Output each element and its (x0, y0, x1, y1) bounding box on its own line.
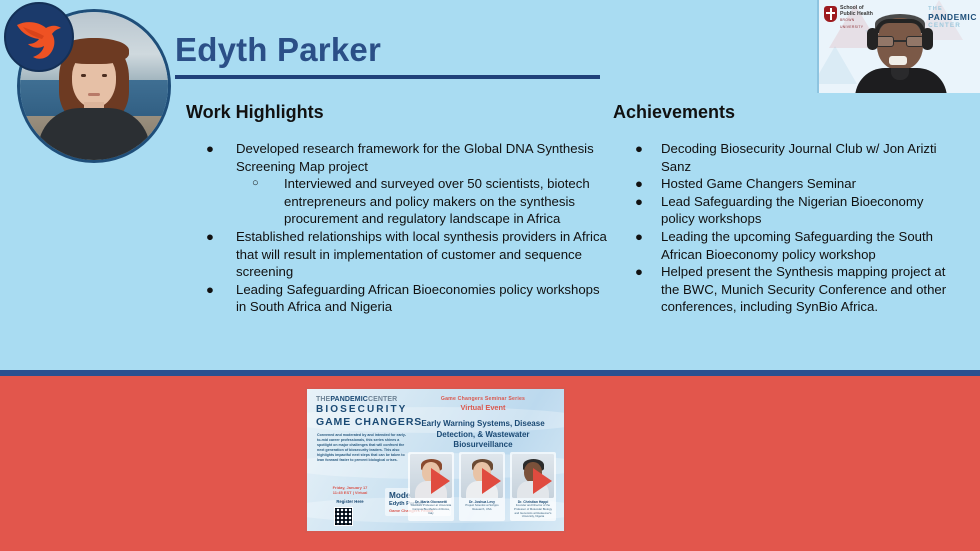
flyer-brand-mid: PANDEMIC (330, 396, 368, 403)
bullet-icon: ● (635, 193, 643, 211)
flyer-brand-pre: THE (316, 396, 330, 403)
achievement-item: ●Hosted Game Changers Seminar (613, 175, 958, 193)
flyer-event-block: Game Changers Seminar Series Virtual Eve… (409, 396, 557, 451)
flyer-date-line2: 11:45 EST | Virtual (319, 490, 381, 495)
achievements-heading: Achievements (613, 102, 735, 123)
flyer-brand-game-changers: GAME CHANGERS (316, 416, 422, 428)
flyer-brand-post: CENTER (368, 396, 397, 403)
achievement-item-text: Lead Safeguarding the Nigerian Bioeconom… (661, 194, 923, 227)
bullet-icon: ● (206, 140, 214, 158)
speaker-photo (461, 454, 503, 498)
shield-icon (824, 6, 837, 22)
flyer-description: Convened and moderated by and intended f… (317, 433, 409, 462)
ibis-bird-logo-icon (4, 2, 74, 72)
flyer-topic: Early Warning Systems, Disease Detection… (409, 419, 557, 451)
seminar-flyer[interactable]: THEPANDEMICCENTER BIOSECURITY GAME CHANG… (305, 387, 566, 533)
flyer-brand-biosecurity: BIOSECURITY (316, 404, 422, 415)
work-highlight-item: ○Interviewed and surveyed over 50 scient… (186, 175, 611, 228)
work-highlights-list: ●Developed research framework for the Gl… (186, 140, 611, 316)
achievement-item: ●Helped present the Synthesis mapping pr… (613, 263, 958, 316)
flyer-event-type: Virtual Event (409, 403, 557, 412)
title-underline (175, 75, 600, 79)
achievement-item-text: Leading the upcoming Safeguarding the So… (661, 229, 933, 262)
flyer-brand: THEPANDEMICCENTER BIOSECURITY GAME CHANG… (316, 396, 422, 428)
pc-line3: CENTER (928, 22, 977, 29)
work-highlights-heading: Work Highlights (186, 102, 324, 123)
speaker-affiliation: Assistant Professor at Universita Campus… (410, 504, 452, 515)
work-highlight-item-text: Developed research framework for the Glo… (236, 141, 594, 174)
work-highlight-item-text: Leading Safeguarding African Bioeconomie… (236, 282, 600, 315)
flyer-date-block: Friday, January 17 11:45 EST | Virtual R… (319, 485, 381, 504)
achievements-list: ●Decoding Biosecurity Journal Club w/ Jo… (613, 140, 958, 316)
speaker-affiliation: Project Scientist at Scripps Research, U… (461, 504, 503, 511)
work-highlight-item: ●Established relationships with local sy… (186, 228, 611, 281)
pandemic-center-logo: THE PANDEMIC CENTER (928, 6, 977, 29)
speaker-photo (512, 454, 554, 498)
speaker-video-tile[interactable]: School of Public Health BROWN UNIVERSITY… (817, 0, 980, 93)
achievement-item: ●Lead Safeguarding the Nigerian Bioecono… (613, 193, 958, 228)
bullet-icon: ● (206, 228, 214, 246)
bullet-icon: ● (206, 281, 214, 299)
work-highlight-item: ●Leading Safeguarding African Bioeconomi… (186, 281, 611, 316)
flyer-speaker-card: Dr. Christian HappiFounder and Director … (510, 452, 556, 521)
flyer-register-label: Register Here (319, 499, 381, 504)
speaker-affiliation: Founder and Director of the Professor of… (512, 504, 554, 518)
achievement-item-text: Helped present the Synthesis mapping pro… (661, 264, 946, 314)
achievement-item-text: Decoding Biosecurity Journal Club w/ Jon… (661, 141, 937, 174)
achievement-item-text: Hosted Game Changers Seminar (661, 176, 856, 191)
speaker-photo (410, 454, 452, 498)
flyer-speaker-card: Dr. Joshua LevyProject Scientist at Scri… (459, 452, 505, 521)
bullet-icon: ● (635, 263, 643, 281)
flyer-speaker-card: Dr. Maria GiovanettiAssistant Professor … (408, 452, 454, 521)
play-arrow-icon (431, 468, 450, 494)
qr-code-icon[interactable] (334, 507, 353, 526)
bullet-icon: ● (635, 140, 643, 158)
work-highlight-item-text: Established relationships with local syn… (236, 229, 607, 279)
work-highlight-item-text: Interviewed and surveyed over 50 scienti… (284, 176, 590, 226)
sub-bullet-icon: ○ (252, 175, 259, 193)
work-highlight-item: ●Developed research framework for the Gl… (186, 140, 611, 175)
play-arrow-icon (482, 468, 501, 494)
presentation-slide: Edyth Parker Work Highlights Achievement… (0, 0, 980, 551)
flyer-speaker-list: Dr. Maria GiovanettiAssistant Professor … (408, 452, 556, 521)
bullet-icon: ● (635, 175, 643, 193)
achievement-item: ●Leading the upcoming Safeguarding the S… (613, 228, 958, 263)
play-arrow-icon (533, 468, 552, 494)
pc-line2: PANDEMIC (928, 12, 977, 22)
flyer-series-label: Game Changers Seminar Series (409, 396, 557, 402)
page-title: Edyth Parker (175, 31, 381, 69)
bullet-icon: ● (635, 228, 643, 246)
achievement-item: ●Decoding Biosecurity Journal Club w/ Jo… (613, 140, 958, 175)
